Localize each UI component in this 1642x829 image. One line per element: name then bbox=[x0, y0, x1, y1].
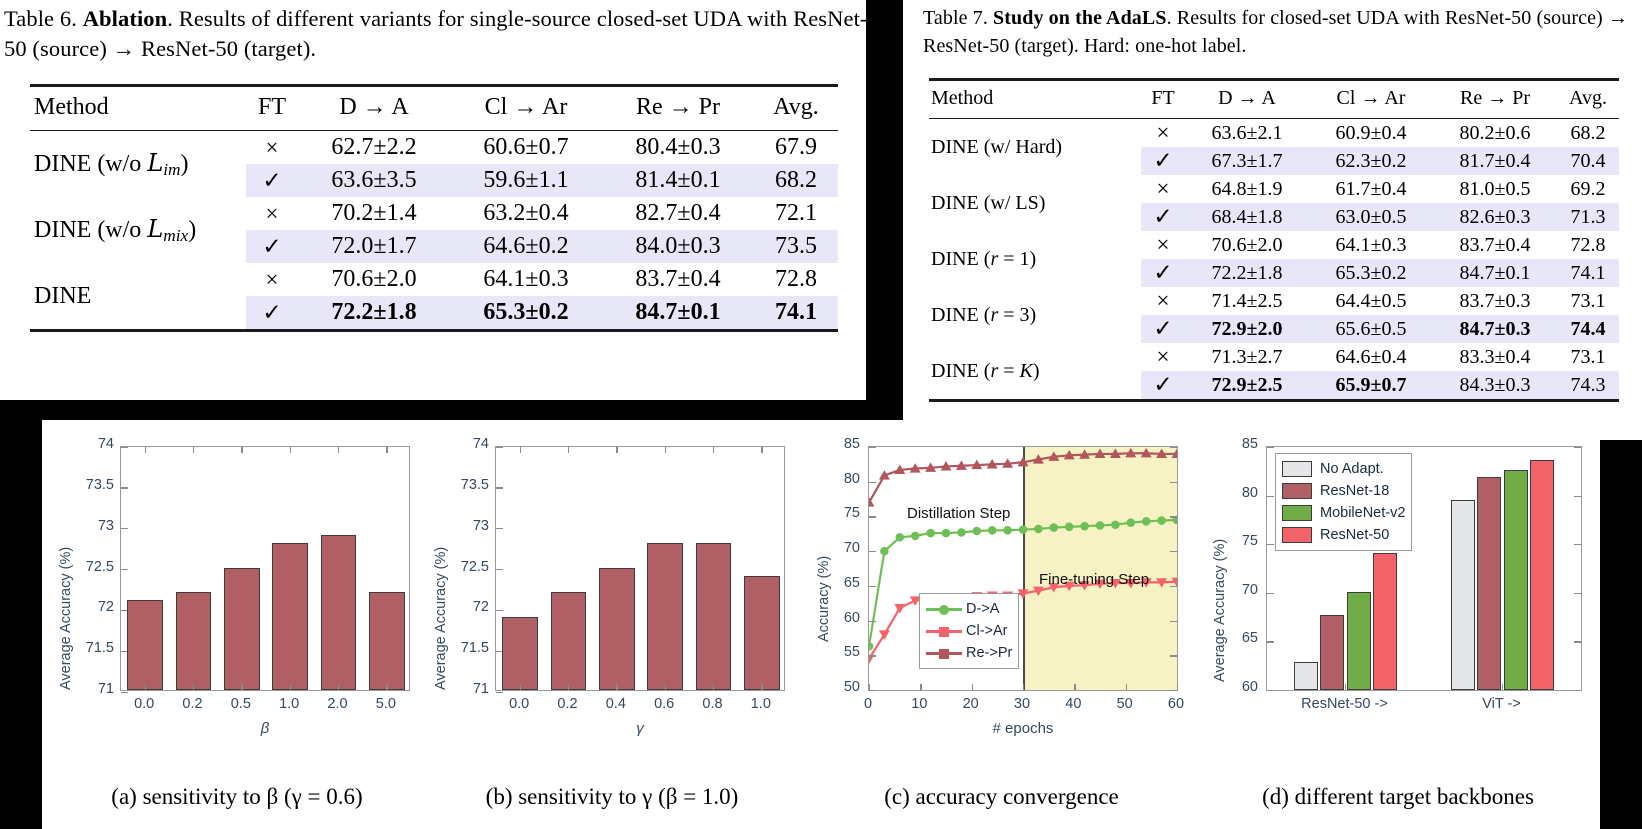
x-tick-mark bbox=[386, 684, 387, 690]
table7-clar: 64.1±0.3 bbox=[1309, 231, 1433, 259]
figure-c-series-svg bbox=[869, 447, 1177, 690]
table7-panel: Table 7. Study on the AdaLS. Results for… bbox=[903, 0, 1642, 440]
table6-repr: 84.0±0.3 bbox=[602, 230, 754, 263]
table7-repr: 84.3±0.3 bbox=[1433, 371, 1557, 401]
y-tick-label: 72 bbox=[66, 599, 114, 615]
table6-repr: 80.4±0.3 bbox=[602, 131, 754, 165]
table7-method-cell: DINE (w/ Hard) bbox=[929, 119, 1141, 176]
bar bbox=[176, 592, 212, 690]
y-tick-label: 72.5 bbox=[441, 559, 489, 575]
y-tick-mark bbox=[1267, 593, 1274, 594]
table7-avg: 74.3 bbox=[1557, 371, 1619, 401]
y-tick-mark-right bbox=[1574, 690, 1581, 691]
y-tick-label: 74 bbox=[66, 436, 114, 452]
bar bbox=[744, 576, 780, 690]
figure-b-xlabel: γ bbox=[495, 720, 785, 737]
legend-swatch bbox=[1282, 461, 1312, 477]
y-tick-mark bbox=[496, 569, 503, 570]
table6-th-repr: Re → Pr bbox=[602, 86, 754, 131]
y-tick-mark bbox=[1267, 641, 1274, 642]
table6-header-row: Method FT D → A Cl → Ar Re → Pr Avg. bbox=[30, 86, 838, 131]
table7-method-cell: DINE (r = 3) bbox=[929, 287, 1141, 343]
bar bbox=[1373, 553, 1397, 690]
y-tick-label: 55 bbox=[814, 644, 860, 660]
y-tick-mark bbox=[496, 610, 503, 611]
y-tick-mark bbox=[121, 569, 128, 570]
y-tick-label: 75 bbox=[814, 505, 860, 521]
y-tick-mark bbox=[869, 690, 876, 691]
legend-row: Cl->Ar bbox=[926, 620, 1012, 642]
y-tick-label: 72.5 bbox=[66, 559, 114, 575]
table7-ft: × bbox=[1141, 287, 1185, 315]
y-tick-label: 50 bbox=[814, 679, 860, 695]
table7-ft: × bbox=[1141, 119, 1185, 148]
legend-row: ResNet-18 bbox=[1282, 480, 1405, 502]
x-tick-mark bbox=[1177, 684, 1178, 690]
table6-ft: ✓ bbox=[246, 296, 298, 331]
y-tick-mark bbox=[869, 447, 876, 448]
y-tick-label: 75 bbox=[1212, 533, 1258, 549]
x-tick-mark bbox=[145, 684, 146, 690]
table7-clar: 64.6±0.4 bbox=[1309, 343, 1433, 371]
legend-label: Re->Pr bbox=[966, 645, 1012, 661]
table6-ft: × bbox=[246, 197, 298, 230]
figure-a-xlabel: β bbox=[120, 720, 410, 737]
table6-th-avg: Avg. bbox=[754, 86, 838, 131]
table7-method-cell: DINE (w/ LS) bbox=[929, 175, 1141, 231]
table7-da: 67.3±1.7 bbox=[1185, 147, 1309, 175]
figures-panel: Average Accuracy (%) 7171.57272.57373.57… bbox=[42, 420, 1600, 829]
y-tick-label: 73 bbox=[441, 518, 489, 534]
table7-body: DINE (w/ Hard) × 63.6±2.1 60.9±0.4 80.2±… bbox=[929, 119, 1619, 401]
legend-line-marker bbox=[926, 645, 962, 661]
figure-d-legend: No Adapt.ResNet-18MobileNet-v2ResNet-50 bbox=[1275, 453, 1412, 551]
x-tick-mark-top bbox=[616, 447, 617, 453]
table6-avg: 73.5 bbox=[754, 230, 838, 263]
table7-ft: ✓ bbox=[1141, 203, 1185, 231]
table7-avg: 70.4 bbox=[1557, 147, 1619, 175]
table6-da: 72.0±1.7 bbox=[298, 230, 450, 263]
y-tick-mark-right bbox=[1170, 655, 1177, 656]
y-tick-mark bbox=[1267, 544, 1274, 545]
table6-repr: 83.7±0.4 bbox=[602, 263, 754, 296]
y-tick-mark bbox=[496, 692, 503, 693]
x-tick-label: 50 bbox=[1100, 696, 1150, 712]
x-tick-mark-top bbox=[761, 447, 762, 453]
table6-method-cell: DINE (w/o Lmix) bbox=[30, 197, 246, 263]
x-tick-mark bbox=[972, 684, 973, 690]
y-tick-mark bbox=[496, 528, 503, 529]
table-row: DINE (r = 1) × 70.6±2.0 64.1±0.3 83.7±0.… bbox=[929, 231, 1619, 259]
table6-panel: Table 6. Ablation. Results of different … bbox=[0, 0, 866, 400]
bar bbox=[1477, 477, 1501, 690]
table7-da: 71.4±2.5 bbox=[1185, 287, 1309, 315]
table7-th-repr: Re → Pr bbox=[1433, 80, 1557, 119]
bar bbox=[502, 617, 538, 691]
y-tick-label: 72 bbox=[441, 599, 489, 615]
table7-avg: 73.1 bbox=[1557, 287, 1619, 315]
bar bbox=[599, 568, 635, 691]
y-tick-label: 73.5 bbox=[441, 477, 489, 493]
y-tick-label: 80 bbox=[1212, 485, 1258, 501]
legend-label: D->A bbox=[966, 601, 999, 617]
bar bbox=[321, 535, 357, 690]
y-tick-mark bbox=[1267, 496, 1274, 497]
y-tick-mark-right bbox=[1170, 447, 1177, 448]
table7-avg: 73.1 bbox=[1557, 343, 1619, 371]
figure-c-ylabel: Accuracy (%) bbox=[816, 556, 832, 642]
table6-head: Method FT D → A Cl → Ar Re → Pr Avg. bbox=[30, 86, 838, 131]
y-tick-mark-right bbox=[1170, 621, 1177, 622]
y-tick-mark-right bbox=[1170, 482, 1177, 483]
figure-d: Average Accuracy (%) 606570758085 No Ada… bbox=[1202, 432, 1594, 772]
legend-line-marker bbox=[926, 601, 962, 617]
table7-avg: 74.1 bbox=[1557, 259, 1619, 287]
y-tick-mark bbox=[869, 621, 876, 622]
legend-swatch bbox=[1282, 483, 1312, 499]
x-tick-mark bbox=[241, 684, 242, 690]
x-tick-mark-top bbox=[338, 447, 339, 453]
figure-b-caption: (b) sensitivity to γ (β = 1.0) bbox=[427, 784, 797, 810]
table7-repr: 84.7±0.1 bbox=[1433, 259, 1557, 287]
x-tick-mark bbox=[713, 684, 714, 690]
table-row: DINE × 70.6±2.0 64.1±0.3 83.7±0.4 72.8 bbox=[30, 263, 838, 296]
table6-ft: ✓ bbox=[246, 164, 298, 197]
legend-label: MobileNet-v2 bbox=[1320, 505, 1405, 521]
table7-ft: ✓ bbox=[1141, 315, 1185, 343]
table6-method-cell: DINE (w/o Lim) bbox=[30, 131, 246, 198]
y-tick-label: 70 bbox=[1212, 582, 1258, 598]
table7-ft: ✓ bbox=[1141, 371, 1185, 401]
table7-repr: 83.7±0.3 bbox=[1433, 287, 1557, 315]
x-tick-mark-top bbox=[386, 447, 387, 453]
x-tick-mark bbox=[568, 684, 569, 690]
table6-da: 72.2±1.8 bbox=[298, 296, 450, 331]
table6-caption-bold: Ablation bbox=[83, 6, 168, 31]
table-row: DINE (w/o Lim) × 62.7±2.2 60.6±0.7 80.4±… bbox=[30, 131, 838, 165]
bar bbox=[696, 543, 732, 690]
table7-ft: × bbox=[1141, 231, 1185, 259]
table7: Method FT D → A Cl → Ar Re → Pr Avg. DIN… bbox=[929, 78, 1619, 402]
x-tick-mark-top bbox=[713, 447, 714, 453]
table7-ft: × bbox=[1141, 343, 1185, 371]
y-tick-mark bbox=[869, 655, 876, 656]
x-tick-label: 30 bbox=[997, 696, 1047, 712]
y-tick-mark bbox=[121, 692, 128, 693]
table6: Method FT D → A Cl → Ar Re → Pr Avg. DIN… bbox=[30, 84, 838, 332]
figure-c-legend: D->ACl->ArRe->Pr bbox=[919, 593, 1019, 669]
legend-row: ResNet-50 bbox=[1282, 524, 1405, 546]
y-tick-label: 70 bbox=[814, 540, 860, 556]
table7-caption-prefix: Table 7. bbox=[923, 7, 993, 29]
figure-d-caption: (d) different target backbones bbox=[1202, 784, 1594, 810]
y-tick-label: 71.5 bbox=[66, 640, 114, 656]
bar bbox=[1530, 460, 1554, 690]
y-tick-mark bbox=[869, 551, 876, 552]
legend-marker bbox=[939, 605, 949, 615]
y-tick-mark bbox=[869, 482, 876, 483]
y-tick-mark-right bbox=[1574, 593, 1581, 594]
table6-ft: × bbox=[246, 131, 298, 165]
legend-row: No Adapt. bbox=[1282, 458, 1405, 480]
table6-avg: 72.8 bbox=[754, 263, 838, 296]
bar bbox=[224, 568, 260, 691]
table7-repr: 83.3±0.4 bbox=[1433, 343, 1557, 371]
table7-ft: ✓ bbox=[1141, 259, 1185, 287]
x-tick-label: 1.0 bbox=[733, 696, 789, 712]
table7-da: 63.6±2.1 bbox=[1185, 119, 1309, 148]
x-tick-mark bbox=[1502, 684, 1503, 690]
table7-clar: 61.7±0.4 bbox=[1309, 175, 1433, 203]
table7-method-cell: DINE (r = 1) bbox=[929, 231, 1141, 287]
x-tick-mark-top bbox=[520, 447, 521, 453]
table7-avg: 72.8 bbox=[1557, 231, 1619, 259]
table6-avg: 74.1 bbox=[754, 296, 838, 331]
table7-header-row: Method FT D → A Cl → Ar Re → Pr Avg. bbox=[929, 80, 1619, 119]
table6-th-ft: FT bbox=[246, 86, 298, 131]
x-tick-mark-top bbox=[568, 447, 569, 453]
legend-swatch bbox=[1282, 505, 1312, 521]
table6-repr: 81.4±0.1 bbox=[602, 164, 754, 197]
y-tick-mark-right bbox=[1574, 641, 1581, 642]
table6-clar: 65.3±0.2 bbox=[450, 296, 602, 331]
x-tick-mark bbox=[665, 684, 666, 690]
x-tick-mark bbox=[193, 684, 194, 690]
table7-avg: 71.3 bbox=[1557, 203, 1619, 231]
x-tick-mark bbox=[1023, 684, 1024, 690]
table7-clar: 64.4±0.5 bbox=[1309, 287, 1433, 315]
table6-repr: 82.7±0.4 bbox=[602, 197, 754, 230]
figure-d-ylabel: Average Accuracy (%) bbox=[1212, 539, 1228, 682]
table6-method-cell: DINE bbox=[30, 263, 246, 331]
table6-avg: 72.1 bbox=[754, 197, 838, 230]
x-tick-label: ResNet-50 -> bbox=[1275, 696, 1415, 712]
figure-a-plot bbox=[120, 446, 410, 691]
x-tick-mark bbox=[761, 684, 762, 690]
table7-clar: 60.9±0.4 bbox=[1309, 119, 1433, 148]
table7-avg: 69.2 bbox=[1557, 175, 1619, 203]
y-tick-label: 60 bbox=[1212, 679, 1258, 695]
table6-ft: ✓ bbox=[246, 230, 298, 263]
table-row: DINE (r = 3) × 71.4±2.5 64.4±0.5 83.7±0.… bbox=[929, 287, 1619, 315]
table7-caption: Table 7. Study on the AdaLS. Results for… bbox=[923, 4, 1635, 60]
x-tick-mark bbox=[1345, 684, 1346, 690]
table6-avg: 68.2 bbox=[754, 164, 838, 197]
y-tick-mark bbox=[121, 487, 128, 488]
table7-repr: 81.0±0.5 bbox=[1433, 175, 1557, 203]
table6-da: 70.2±1.4 bbox=[298, 197, 450, 230]
table-row: DINE (w/ Hard) × 63.6±2.1 60.9±0.4 80.2±… bbox=[929, 119, 1619, 148]
y-tick-mark-right bbox=[1170, 551, 1177, 552]
bar bbox=[1451, 500, 1475, 690]
x-tick-mark-top bbox=[241, 447, 242, 453]
legend-row: D->A bbox=[926, 598, 1012, 620]
figure-a-caption: (a) sensitivity to β (γ = 0.6) bbox=[52, 784, 422, 810]
table6-th-clar: Cl → Ar bbox=[450, 86, 602, 131]
table6-avg: 67.9 bbox=[754, 131, 838, 165]
legend-label: No Adapt. bbox=[1320, 461, 1384, 477]
y-tick-label: 65 bbox=[1212, 630, 1258, 646]
table7-th-method: Method bbox=[929, 80, 1141, 119]
table7-caption-bold: Study on the AdaLS bbox=[993, 7, 1167, 29]
x-tick-mark bbox=[290, 684, 291, 690]
x-tick-label: 40 bbox=[1048, 696, 1098, 712]
figure-a: Average Accuracy (%) 7171.57272.57373.57… bbox=[52, 432, 422, 772]
x-tick-mark bbox=[869, 684, 870, 690]
x-tick-mark-top bbox=[290, 447, 291, 453]
figure-c-xlabel: # epochs bbox=[868, 720, 1178, 737]
bar bbox=[1347, 592, 1371, 690]
x-tick-mark-top bbox=[145, 447, 146, 453]
table7-da: 70.6±2.0 bbox=[1185, 231, 1309, 259]
y-tick-label: 71.5 bbox=[441, 640, 489, 656]
x-tick-label: ViT -> bbox=[1432, 696, 1572, 712]
table6-caption: Table 6. Ablation. Results of different … bbox=[4, 4, 866, 64]
bar bbox=[647, 543, 683, 690]
table6-clar: 59.6±1.1 bbox=[450, 164, 602, 197]
table7-repr: 83.7±0.4 bbox=[1433, 231, 1557, 259]
y-tick-label: 65 bbox=[814, 575, 860, 591]
table-row: DINE (w/o Lmix) × 70.2±1.4 63.2±0.4 82.7… bbox=[30, 197, 838, 230]
bar bbox=[1294, 662, 1318, 690]
table-row: DINE (r = K) × 71.3±2.7 64.6±0.4 83.3±0.… bbox=[929, 343, 1619, 371]
table6-th-method: Method bbox=[30, 86, 246, 131]
table7-da: 64.8±1.9 bbox=[1185, 175, 1309, 203]
y-tick-mark bbox=[1267, 690, 1274, 691]
bar bbox=[127, 600, 163, 690]
y-tick-label: 85 bbox=[814, 436, 860, 452]
y-tick-mark bbox=[1267, 447, 1274, 448]
table7-th-avg: Avg. bbox=[1557, 80, 1619, 119]
x-tick-mark-top bbox=[665, 447, 666, 453]
x-tick-mark-top bbox=[193, 447, 194, 453]
bar bbox=[1504, 470, 1528, 690]
y-tick-mark bbox=[869, 586, 876, 587]
figure-c-plot: Distillation Step Fine-tuning Step D->AC… bbox=[868, 446, 1178, 691]
y-tick-mark-right bbox=[1574, 447, 1581, 448]
table6-th-da: D → A bbox=[298, 86, 450, 131]
x-tick-label: 10 bbox=[894, 696, 944, 712]
y-tick-mark-right bbox=[1170, 586, 1177, 587]
x-tick-mark bbox=[1074, 684, 1075, 690]
table7-ft: ✓ bbox=[1141, 147, 1185, 175]
legend-swatch bbox=[1282, 527, 1312, 543]
table6-caption-prefix: Table 6. bbox=[4, 6, 83, 31]
x-tick-mark bbox=[920, 684, 921, 690]
table7-avg: 74.4 bbox=[1557, 315, 1619, 343]
legend-marker bbox=[939, 627, 949, 637]
table6-clar: 60.6±0.7 bbox=[450, 131, 602, 165]
x-tick-label: 60 bbox=[1151, 696, 1201, 712]
table6-ft: × bbox=[246, 263, 298, 296]
y-tick-label: 73 bbox=[66, 518, 114, 534]
y-tick-mark-right bbox=[1574, 544, 1581, 545]
legend-label: ResNet-50 bbox=[1320, 527, 1389, 543]
table6-da: 70.6±2.0 bbox=[298, 263, 450, 296]
table7-da: 71.3±2.7 bbox=[1185, 343, 1309, 371]
y-tick-label: 73.5 bbox=[66, 477, 114, 493]
table7-wrapper: Method FT D → A Cl → Ar Re → Pr Avg. DIN… bbox=[929, 78, 1619, 402]
y-tick-mark bbox=[869, 516, 876, 517]
figure-d-plot: No Adapt.ResNet-18MobileNet-v2ResNet-50 bbox=[1266, 446, 1582, 691]
y-tick-mark-right bbox=[1170, 690, 1177, 691]
legend-line-marker bbox=[926, 623, 962, 639]
y-tick-label: 74 bbox=[441, 436, 489, 452]
y-tick-label: 71 bbox=[66, 681, 114, 697]
y-tick-label: 85 bbox=[1212, 436, 1258, 452]
x-tick-mark bbox=[1126, 684, 1127, 690]
table-row: DINE (w/ LS) × 64.8±1.9 61.7±0.4 81.0±0.… bbox=[929, 175, 1619, 203]
table7-clar: 62.3±0.2 bbox=[1309, 147, 1433, 175]
table6-wrapper: Method FT D → A Cl → Ar Re → Pr Avg. DIN… bbox=[30, 84, 838, 332]
table6-da: 62.7±2.2 bbox=[298, 131, 450, 165]
legend-label: ResNet-18 bbox=[1320, 483, 1389, 499]
table6-clar: 64.6±0.2 bbox=[450, 230, 602, 263]
fine-tuning-step-label: Fine-tuning Step bbox=[1039, 571, 1149, 588]
legend-row: Re->Pr bbox=[926, 642, 1012, 664]
bar bbox=[272, 543, 308, 690]
y-tick-mark-right bbox=[1170, 516, 1177, 517]
table7-th-clar: Cl → Ar bbox=[1309, 80, 1433, 119]
y-tick-mark-right bbox=[1574, 496, 1581, 497]
table7-method-cell: DINE (r = K) bbox=[929, 343, 1141, 401]
table7-th-ft: FT bbox=[1141, 80, 1185, 119]
table7-da: 72.9±2.5 bbox=[1185, 371, 1309, 401]
table7-repr: 80.2±0.6 bbox=[1433, 119, 1557, 148]
y-tick-label: 80 bbox=[814, 471, 860, 487]
legend-label: Cl->Ar bbox=[966, 623, 1008, 639]
table7-da: 72.9±2.0 bbox=[1185, 315, 1309, 343]
table6-clar: 64.1±0.3 bbox=[450, 263, 602, 296]
table7-clar: 65.9±0.7 bbox=[1309, 371, 1433, 401]
table7-repr: 81.7±0.4 bbox=[1433, 147, 1557, 175]
x-tick-mark bbox=[616, 684, 617, 690]
bar bbox=[551, 592, 587, 690]
table7-da: 68.4±1.8 bbox=[1185, 203, 1309, 231]
table7-da: 72.2±1.8 bbox=[1185, 259, 1309, 287]
x-tick-mark bbox=[520, 684, 521, 690]
legend-marker bbox=[939, 649, 949, 659]
table7-avg: 68.2 bbox=[1557, 119, 1619, 148]
table7-clar: 65.3±0.2 bbox=[1309, 259, 1433, 287]
table7-head: Method FT D → A Cl → Ar Re → Pr Avg. bbox=[929, 80, 1619, 119]
figure-b: Average Accuracy (%) 7171.57272.57373.57… bbox=[427, 432, 797, 772]
y-tick-label: 71 bbox=[441, 681, 489, 697]
x-tick-label: 20 bbox=[946, 696, 996, 712]
table6-clar: 63.2±0.4 bbox=[450, 197, 602, 230]
bar bbox=[1320, 615, 1344, 690]
distillation-step-label: Distillation Step bbox=[907, 505, 1010, 522]
y-tick-mark bbox=[121, 528, 128, 529]
y-tick-mark bbox=[121, 447, 128, 448]
table7-repr: 84.7±0.3 bbox=[1433, 315, 1557, 343]
y-tick-label: 60 bbox=[814, 610, 860, 626]
y-tick-mark bbox=[496, 447, 503, 448]
table7-clar: 65.6±0.5 bbox=[1309, 315, 1433, 343]
table6-repr: 84.7±0.1 bbox=[602, 296, 754, 331]
table6-da: 63.6±3.5 bbox=[298, 164, 450, 197]
table6-body: DINE (w/o Lim) × 62.7±2.2 60.6±0.7 80.4±… bbox=[30, 131, 838, 331]
table7-ft: × bbox=[1141, 175, 1185, 203]
y-tick-mark bbox=[496, 487, 503, 488]
x-tick-label: 5.0 bbox=[358, 696, 414, 712]
table7-clar: 63.0±0.5 bbox=[1309, 203, 1433, 231]
table7-repr: 82.6±0.3 bbox=[1433, 203, 1557, 231]
x-tick-mark bbox=[338, 684, 339, 690]
figure-c-caption: (c) accuracy convergence bbox=[804, 784, 1199, 810]
table7-th-da: D → A bbox=[1185, 80, 1309, 119]
x-tick-label: 0 bbox=[843, 696, 893, 712]
